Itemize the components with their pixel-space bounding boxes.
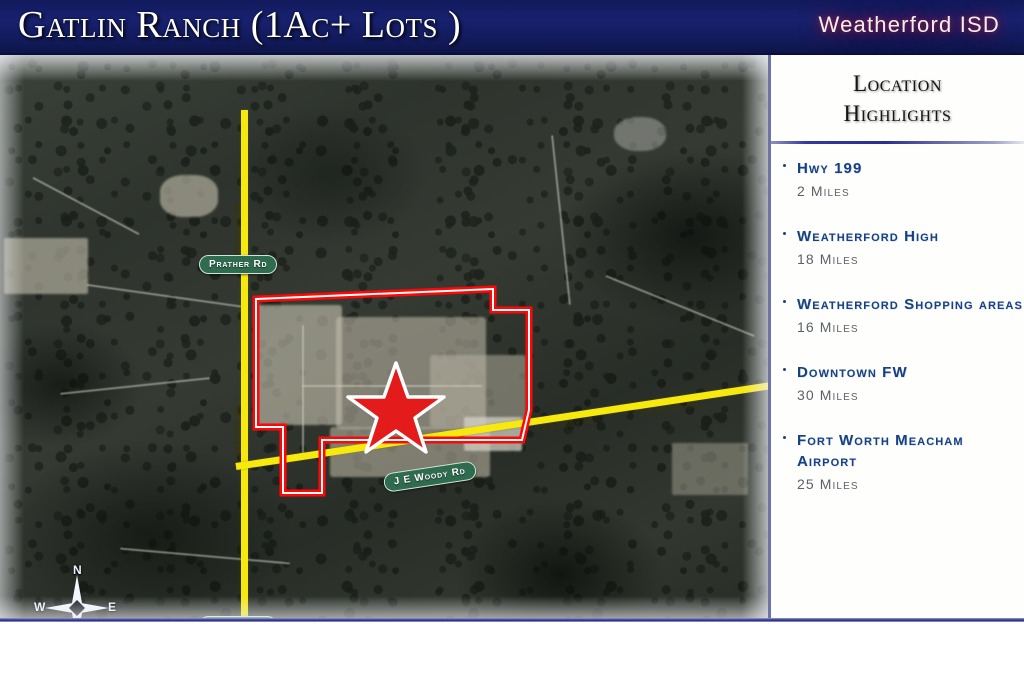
highlight-distance: 30 Miles — [797, 384, 1024, 406]
page-title: Gatlin Ranch (1Ac+ Lots ) — [18, 3, 461, 47]
bullet-icon — [783, 232, 786, 235]
bullet-icon — [783, 164, 786, 167]
highlight-distance: 2 Miles — [797, 180, 1024, 202]
compass-label-west: W — [34, 600, 45, 614]
field-site-west — [256, 305, 342, 425]
sidebar-divider — [771, 141, 1024, 144]
compass-label-north: N — [73, 563, 82, 577]
highlight-distance: 18 Miles — [797, 248, 1024, 270]
highlight-distance: 16 Miles — [797, 316, 1024, 338]
highlight-name: Hwy 199 — [797, 158, 1024, 179]
school-district-badge: Weatherford ISD — [819, 12, 1000, 38]
road-label-prather-rd-north: Prather Rd — [199, 255, 277, 274]
highlight-distance: 25 Miles — [797, 473, 1024, 495]
list-item: Downtown FW 30 Miles — [797, 362, 1024, 406]
list-item: Weatherford High 18 Miles — [797, 226, 1024, 270]
field-far-north — [614, 117, 666, 151]
road-prather-rd[interactable] — [241, 110, 248, 618]
highlights-list: Hwy 199 2 Miles Weatherford High 18 Mile… — [771, 158, 1024, 495]
field-pond-west — [4, 238, 88, 294]
minor-road-site-loop — [302, 325, 304, 455]
highlight-name: Weatherford Shopping areas — [797, 294, 1024, 315]
sidebar-heading: Location Highlights — [771, 55, 1024, 129]
compass-rose: N S W E — [34, 563, 120, 618]
highlight-name: Weatherford High — [797, 226, 1024, 247]
bullet-icon — [783, 436, 786, 439]
list-item: Weatherford Shopping areas 16 Miles — [797, 294, 1024, 338]
highlight-name: Fort Worth Meacham Airport — [797, 430, 1024, 472]
page-header: Gatlin Ranch (1Ac+ Lots ) Weatherford IS… — [0, 0, 1024, 55]
road-inline-label-prather-2: PRATHER RD — [235, 203, 242, 254]
sidebar-heading-line2: Highlights — [781, 99, 1014, 129]
list-item: Hwy 199 2 Miles — [797, 158, 1024, 202]
minor-road-site-spur — [302, 385, 482, 387]
bullet-icon — [783, 300, 786, 303]
highlight-name: Downtown FW — [797, 362, 1024, 383]
content-frame: J E WOODY RD J E WOODY RD PRATHER RD PRA… — [0, 55, 1024, 622]
field-northwest — [160, 175, 218, 217]
sidebar-heading-line1: Location — [781, 69, 1014, 99]
compass-label-east: E — [108, 600, 116, 614]
aerial-map-panel[interactable]: J E WOODY RD J E WOODY RD PRATHER RD PRA… — [0, 55, 771, 618]
bullet-icon — [783, 368, 786, 371]
road-label-prather-rd-south: Prather Rd — [199, 616, 277, 618]
location-highlights-sidebar: Location Highlights Hwy 199 2 Miles Weat… — [771, 55, 1024, 618]
field-east-lot — [672, 443, 748, 495]
road-inline-label-prather: PRATHER RD — [235, 405, 242, 456]
list-item: Fort Worth Meacham Airport 25 Miles — [797, 430, 1024, 495]
page-footer — [0, 622, 1024, 682]
